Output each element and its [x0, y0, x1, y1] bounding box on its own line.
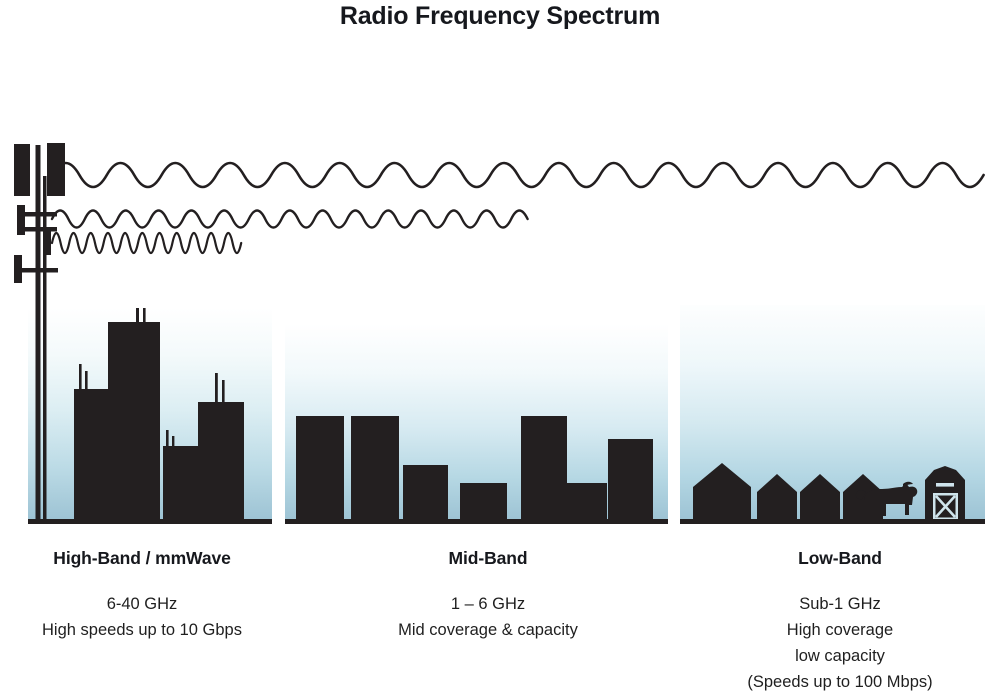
low-frequency-wave-icon [52, 163, 984, 187]
band-caption-low-band: Low-Band Sub-1 GHz High coverage low cap… [680, 548, 1000, 695]
band-caption-high-band: High-Band / mmWave 6-40 GHz High speeds … [0, 548, 284, 643]
band-detail-high-band-1: High speeds up to 10 Gbps [0, 617, 284, 643]
band-heading-mid-band: Mid-Band [296, 548, 680, 569]
band-detail-mid-band-1: Mid coverage & capacity [296, 617, 680, 643]
band-detail-low-band-3: (Speeds up to 100 Mbps) [680, 669, 1000, 695]
high-frequency-wave-icon [52, 233, 241, 253]
band-heading-low-band: Low-Band [680, 548, 1000, 569]
band-detail-low-band-2: low capacity [680, 643, 1000, 669]
band-frequency-low-band: Sub-1 GHz [680, 591, 1000, 617]
barn-icon [925, 466, 965, 520]
band-frequency-mid-band: 1 – 6 GHz [296, 591, 680, 617]
band-detail-low-band-1: High coverage [680, 617, 1000, 643]
mid-frequency-wave-icon [52, 211, 528, 228]
band-caption-mid-band: Mid-Band 1 – 6 GHz Mid coverage & capaci… [296, 548, 680, 643]
band-heading-high-band: High-Band / mmWave [0, 548, 284, 569]
band-frequency-high-band: 6-40 GHz [0, 591, 284, 617]
ground-baseline [28, 519, 985, 524]
infographic-canvas: Radio Frequency Spectrum [0, 0, 1000, 700]
